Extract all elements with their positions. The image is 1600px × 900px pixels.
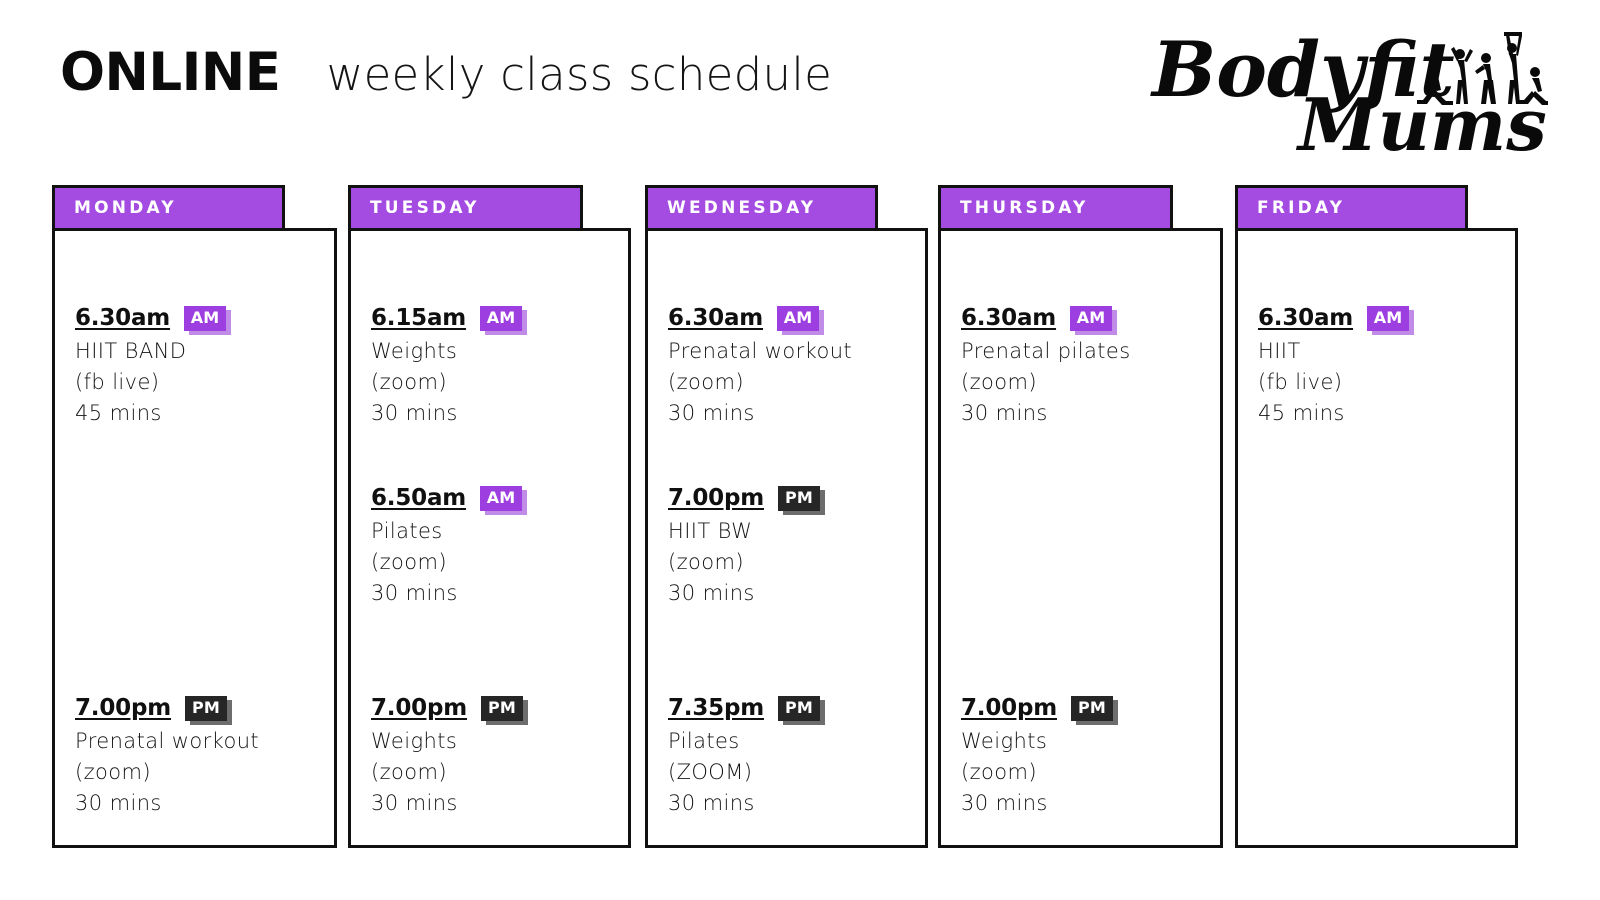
entry-time-row: 6.30amAM [668, 303, 917, 333]
title-online: ONLINE [60, 46, 280, 99]
day-body-wednesday: 6.30amAMPrenatal workout(zoom)30 mins7.0… [645, 228, 928, 848]
weekly-schedule-grid: 6.30amAMHIIT BAND(fb live)45 mins7.00pmP… [0, 185, 1600, 860]
class-entry[interactable]: 6.30amAMHIIT(fb live)45 mins [1258, 303, 1507, 429]
entry-time-row: 7.00pmPM [668, 483, 917, 513]
class-entry[interactable]: 7.35pmPMPilates(ZOOM)30 mins [668, 693, 917, 819]
day-body-thursday: 6.30amAMPrenatal pilates(zoom)30 mins7.0… [938, 228, 1223, 848]
badge-face: AM [184, 306, 226, 331]
pm-badge-icon: PM [185, 696, 227, 721]
entry-time: 6.30am [1258, 305, 1353, 331]
page-title: ONLINE weekly class schedule [60, 46, 832, 99]
day-header-monday[interactable]: MONDAY [52, 185, 285, 231]
badge-label: PM [785, 700, 813, 716]
entry-time: 7.00pm [961, 695, 1057, 721]
am-badge-icon: AM [777, 306, 819, 331]
badge-label: AM [191, 310, 220, 326]
badge-label: AM [487, 490, 516, 506]
entry-venue: (zoom) [961, 757, 1212, 788]
entry-time-row: 6.30amAM [75, 303, 326, 333]
badge-label: PM [488, 700, 516, 716]
class-entry[interactable]: 7.00pmPMHIIT BW(zoom)30 mins [668, 483, 917, 609]
entry-class-name: Weights [371, 336, 620, 367]
entry-venue: (zoom) [75, 757, 326, 788]
entry-time: 6.15am [371, 305, 466, 331]
logo-artwork: Bodyfit Mums [1148, 18, 1548, 158]
badge-face: PM [778, 486, 820, 511]
day-header-label: THURSDAY [960, 198, 1089, 218]
entry-class-name: HIIT BAND [75, 336, 326, 367]
day-header-tuesday[interactable]: TUESDAY [348, 185, 583, 231]
pm-badge-icon: PM [481, 696, 523, 721]
pm-badge-icon: PM [778, 696, 820, 721]
day-body-monday: 6.30amAMHIIT BAND(fb live)45 mins7.00pmP… [52, 228, 337, 848]
badge-label: AM [1077, 310, 1106, 326]
day-header-label: MONDAY [74, 198, 177, 218]
entry-venue: (fb live) [1258, 367, 1507, 398]
badge-label: AM [487, 310, 516, 326]
entry-venue: (zoom) [371, 757, 620, 788]
day-header-label: WEDNESDAY [667, 198, 816, 218]
badge-label: PM [1078, 700, 1106, 716]
entry-class-name: Pilates [668, 726, 917, 757]
entry-time-row: 6.50amAM [371, 483, 620, 513]
entry-time: 7.00pm [371, 695, 467, 721]
entry-time: 6.50am [371, 485, 466, 511]
entry-time-row: 6.15amAM [371, 303, 620, 333]
day-header-wednesday[interactable]: WEDNESDAY [645, 185, 878, 231]
day-body-friday: 6.30amAMHIIT(fb live)45 mins [1235, 228, 1518, 848]
am-badge-icon: AM [184, 306, 226, 331]
entry-venue: (fb live) [75, 367, 326, 398]
page-header: ONLINE weekly class schedule Bodyfit Mum… [0, 0, 1600, 175]
entry-time: 7.00pm [668, 485, 764, 511]
badge-face: AM [1367, 306, 1409, 331]
day-header-thursday[interactable]: THURSDAY [938, 185, 1173, 231]
entry-duration: 30 mins [961, 398, 1212, 429]
entry-class-name: HIIT [1258, 336, 1507, 367]
class-entry[interactable]: 6.30amAMPrenatal pilates(zoom)30 mins [961, 303, 1212, 429]
entry-time-row: 6.30amAM [961, 303, 1212, 333]
entry-class-name: Pilates [371, 516, 620, 547]
am-badge-icon: AM [1367, 306, 1409, 331]
entry-time: 7.35pm [668, 695, 764, 721]
title-subtitle: weekly class schedule [326, 52, 832, 97]
entry-time: 6.30am [75, 305, 170, 331]
entry-time-row: 7.00pmPM [371, 693, 620, 723]
entry-venue: (zoom) [668, 367, 917, 398]
entry-time: 6.30am [961, 305, 1056, 331]
entry-duration: 30 mins [371, 578, 620, 609]
entry-venue: (zoom) [371, 547, 620, 578]
day-body-tuesday: 6.15amAMWeights(zoom)30 mins6.50amAMPila… [348, 228, 631, 848]
pm-badge-icon: PM [1071, 696, 1113, 721]
am-badge-icon: AM [1070, 306, 1112, 331]
entry-venue: (ZOOM) [668, 757, 917, 788]
badge-face: AM [480, 306, 522, 331]
entry-venue: (zoom) [668, 547, 917, 578]
entry-venue: (zoom) [961, 367, 1212, 398]
day-header-label: TUESDAY [370, 198, 480, 218]
entry-duration: 30 mins [75, 788, 326, 819]
class-entry[interactable]: 7.00pmPMPrenatal workout(zoom)30 mins [75, 693, 326, 819]
entry-class-name: Prenatal workout [668, 336, 917, 367]
badge-face: AM [777, 306, 819, 331]
badge-face: AM [480, 486, 522, 511]
day-header-friday[interactable]: FRIDAY [1235, 185, 1468, 231]
day-header-label: FRIDAY [1257, 198, 1345, 218]
entry-duration: 30 mins [668, 578, 917, 609]
badge-label: AM [1374, 310, 1403, 326]
entry-class-name: Prenatal pilates [961, 336, 1212, 367]
entry-class-name: Weights [961, 726, 1212, 757]
badge-label: PM [192, 700, 220, 716]
am-badge-icon: AM [480, 486, 522, 511]
am-badge-icon: AM [480, 306, 522, 331]
class-entry[interactable]: 6.30amAMHIIT BAND(fb live)45 mins [75, 303, 326, 429]
entry-time-row: 7.00pmPM [75, 693, 326, 723]
badge-face: PM [1071, 696, 1113, 721]
entry-venue: (zoom) [371, 367, 620, 398]
badge-label: AM [784, 310, 813, 326]
entry-time-row: 7.35pmPM [668, 693, 917, 723]
badge-face: PM [778, 696, 820, 721]
pm-badge-icon: PM [778, 486, 820, 511]
entry-duration: 30 mins [371, 398, 620, 429]
class-entry[interactable]: 7.00pmPMWeights(zoom)30 mins [961, 693, 1212, 819]
entry-time-row: 6.30amAM [1258, 303, 1507, 333]
class-entry[interactable]: 6.30amAMPrenatal workout(zoom)30 mins [668, 303, 917, 429]
entry-time-row: 7.00pmPM [961, 693, 1212, 723]
badge-label: PM [785, 490, 813, 506]
entry-duration: 45 mins [75, 398, 326, 429]
entry-class-name: HIIT BW [668, 516, 917, 547]
class-entry[interactable]: 7.00pmPMWeights(zoom)30 mins [371, 693, 620, 819]
entry-time: 7.00pm [75, 695, 171, 721]
entry-time: 6.30am [668, 305, 763, 331]
entry-duration: 30 mins [668, 398, 917, 429]
entry-class-name: Prenatal workout [75, 726, 326, 757]
entry-duration: 30 mins [668, 788, 917, 819]
entry-duration: 45 mins [1258, 398, 1507, 429]
badge-face: PM [481, 696, 523, 721]
badge-face: AM [1070, 306, 1112, 331]
entry-class-name: Weights [371, 726, 620, 757]
badge-face: PM [185, 696, 227, 721]
class-entry[interactable]: 6.15amAMWeights(zoom)30 mins [371, 303, 620, 429]
class-entry[interactable]: 6.50amAMPilates(zoom)30 mins [371, 483, 620, 609]
entry-duration: 30 mins [371, 788, 620, 819]
bodyfit-mums-logo: Bodyfit Mums [1148, 18, 1548, 158]
entry-duration: 30 mins [961, 788, 1212, 819]
